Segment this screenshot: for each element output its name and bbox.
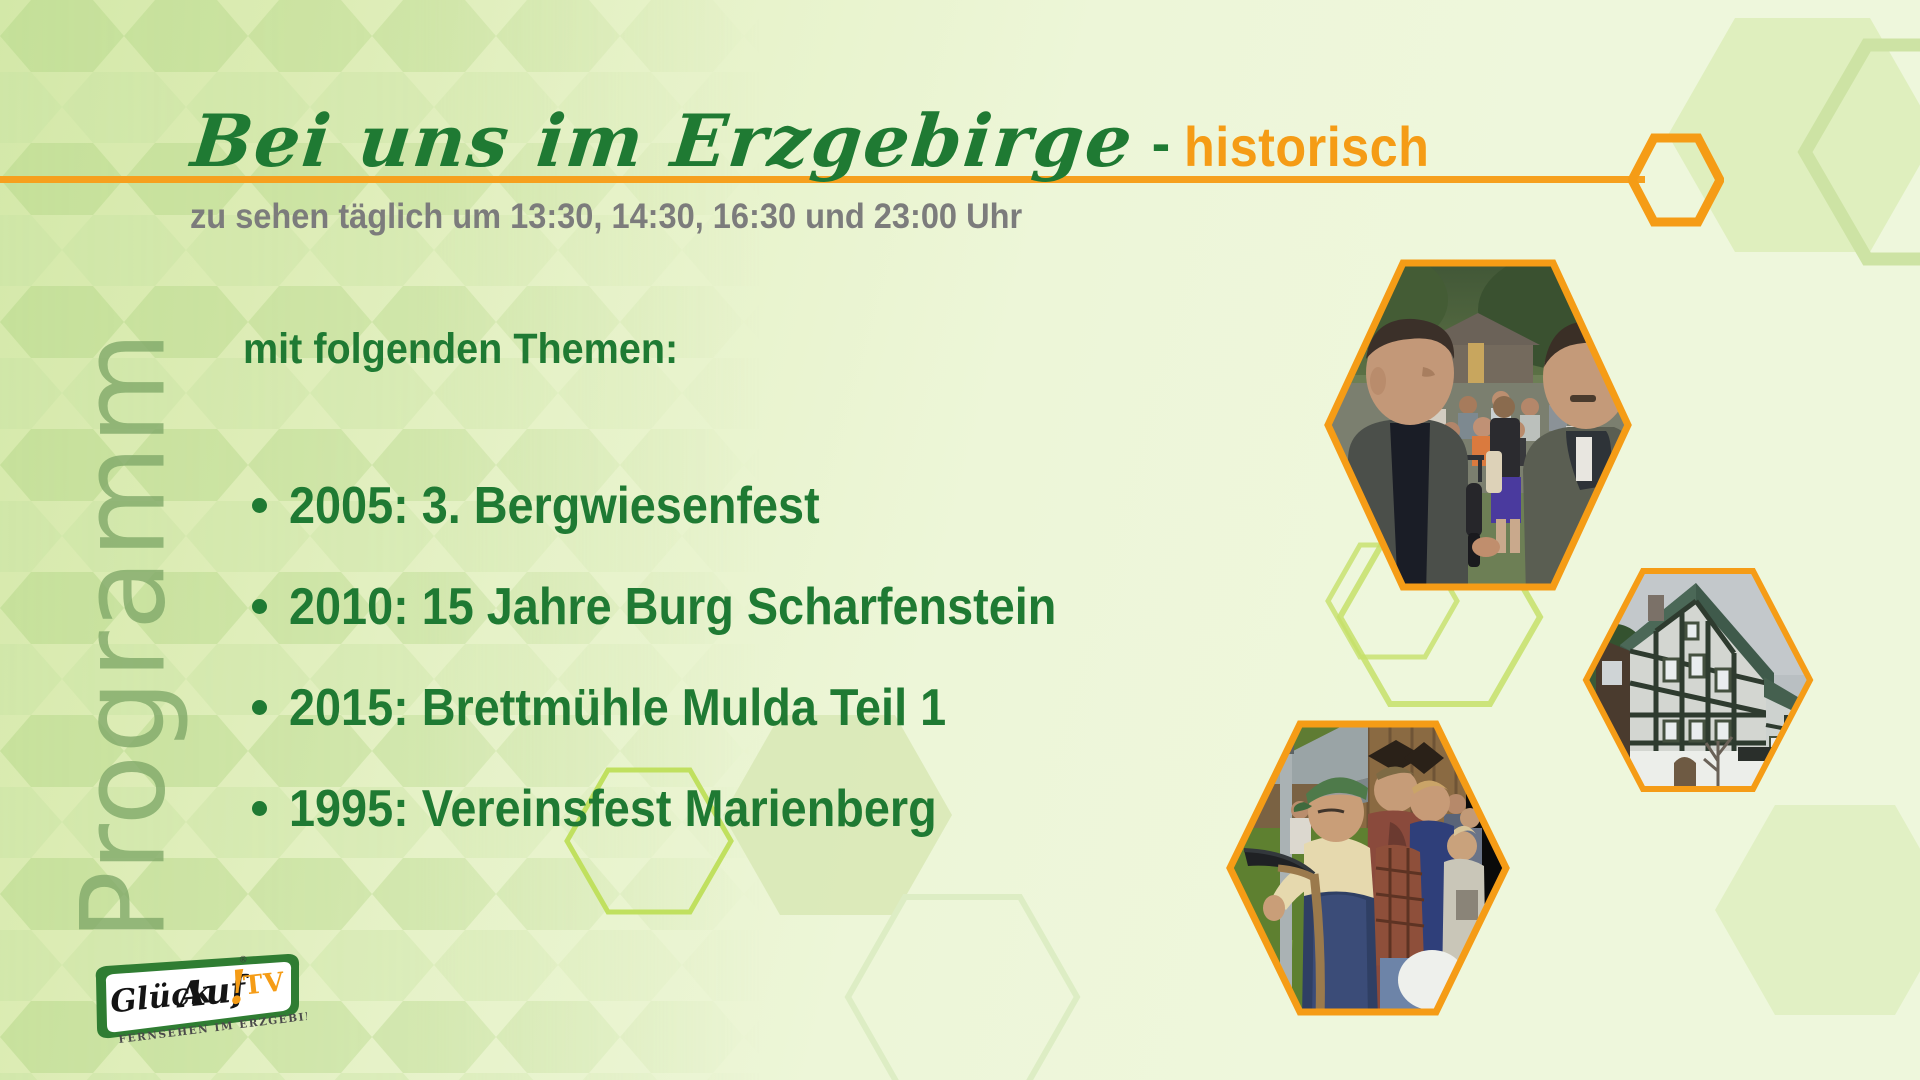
list-item-label: 2005: 3. Bergwiesenfest — [289, 476, 820, 536]
list-item: 2015: Brettmühle Mulda Teil 1 — [252, 657, 1142, 758]
hexagon-filled-bottom-right — [1715, 805, 1920, 1015]
topics-lead-in: mit folgenden Themen: — [243, 325, 678, 374]
slide-root: Programm Bei uns im Erzgebirge - histori… — [0, 0, 1920, 1080]
list-item: 1995: Vereinsfest Marienberg — [252, 758, 1142, 859]
logo-brand-tv: TV — [242, 967, 286, 1001]
list-item-label: 2010: 15 Jahre Burg Scharfenstein — [289, 577, 1056, 637]
vertical-section-label: Programm — [57, 286, 192, 986]
title-accent-part: historisch — [1184, 114, 1429, 179]
logo-registered-mark: ® — [238, 955, 248, 966]
bullet-icon — [252, 801, 267, 816]
hexagon-outline-top-right — [1805, 45, 1920, 259]
broadcast-times: zu sehen täglich um 13:30, 14:30, 16:30 … — [190, 197, 1022, 237]
photo-scythe-demonstration — [1218, 718, 1518, 1018]
list-item: 2010: 15 Jahre Burg Scharfenstein — [252, 556, 1142, 657]
title-dash: - — [1134, 110, 1185, 175]
bullet-icon — [252, 498, 267, 513]
bullet-icon — [252, 599, 267, 614]
list-item-label: 1995: Vereinsfest Marienberg — [289, 779, 937, 839]
orange-hexagon-accent — [1628, 132, 1724, 228]
page-title: Bei uns im Erzgebirge - historisch — [192, 98, 1457, 183]
title-script-part: Bei uns im Erzgebirge — [188, 98, 1139, 183]
list-item-label: 2015: Brettmühle Mulda Teil 1 — [289, 678, 946, 738]
bullet-icon — [252, 700, 267, 715]
photo-half-timbered-house — [1578, 565, 1818, 795]
hexagon-outline-bottom — [848, 897, 1077, 1080]
list-item: 2005: 3. Bergwiesenfest — [252, 455, 1142, 556]
logo-glueckauf-tv: Glück Auf ! TV ® FERNSEHEN IM ERZGEBIRGE — [92, 952, 307, 1048]
photo-interview-two-men-outdoor-event — [1318, 255, 1638, 595]
topic-list: 2005: 3. Bergwiesenfest 2010: 15 Jahre B… — [252, 455, 1142, 859]
